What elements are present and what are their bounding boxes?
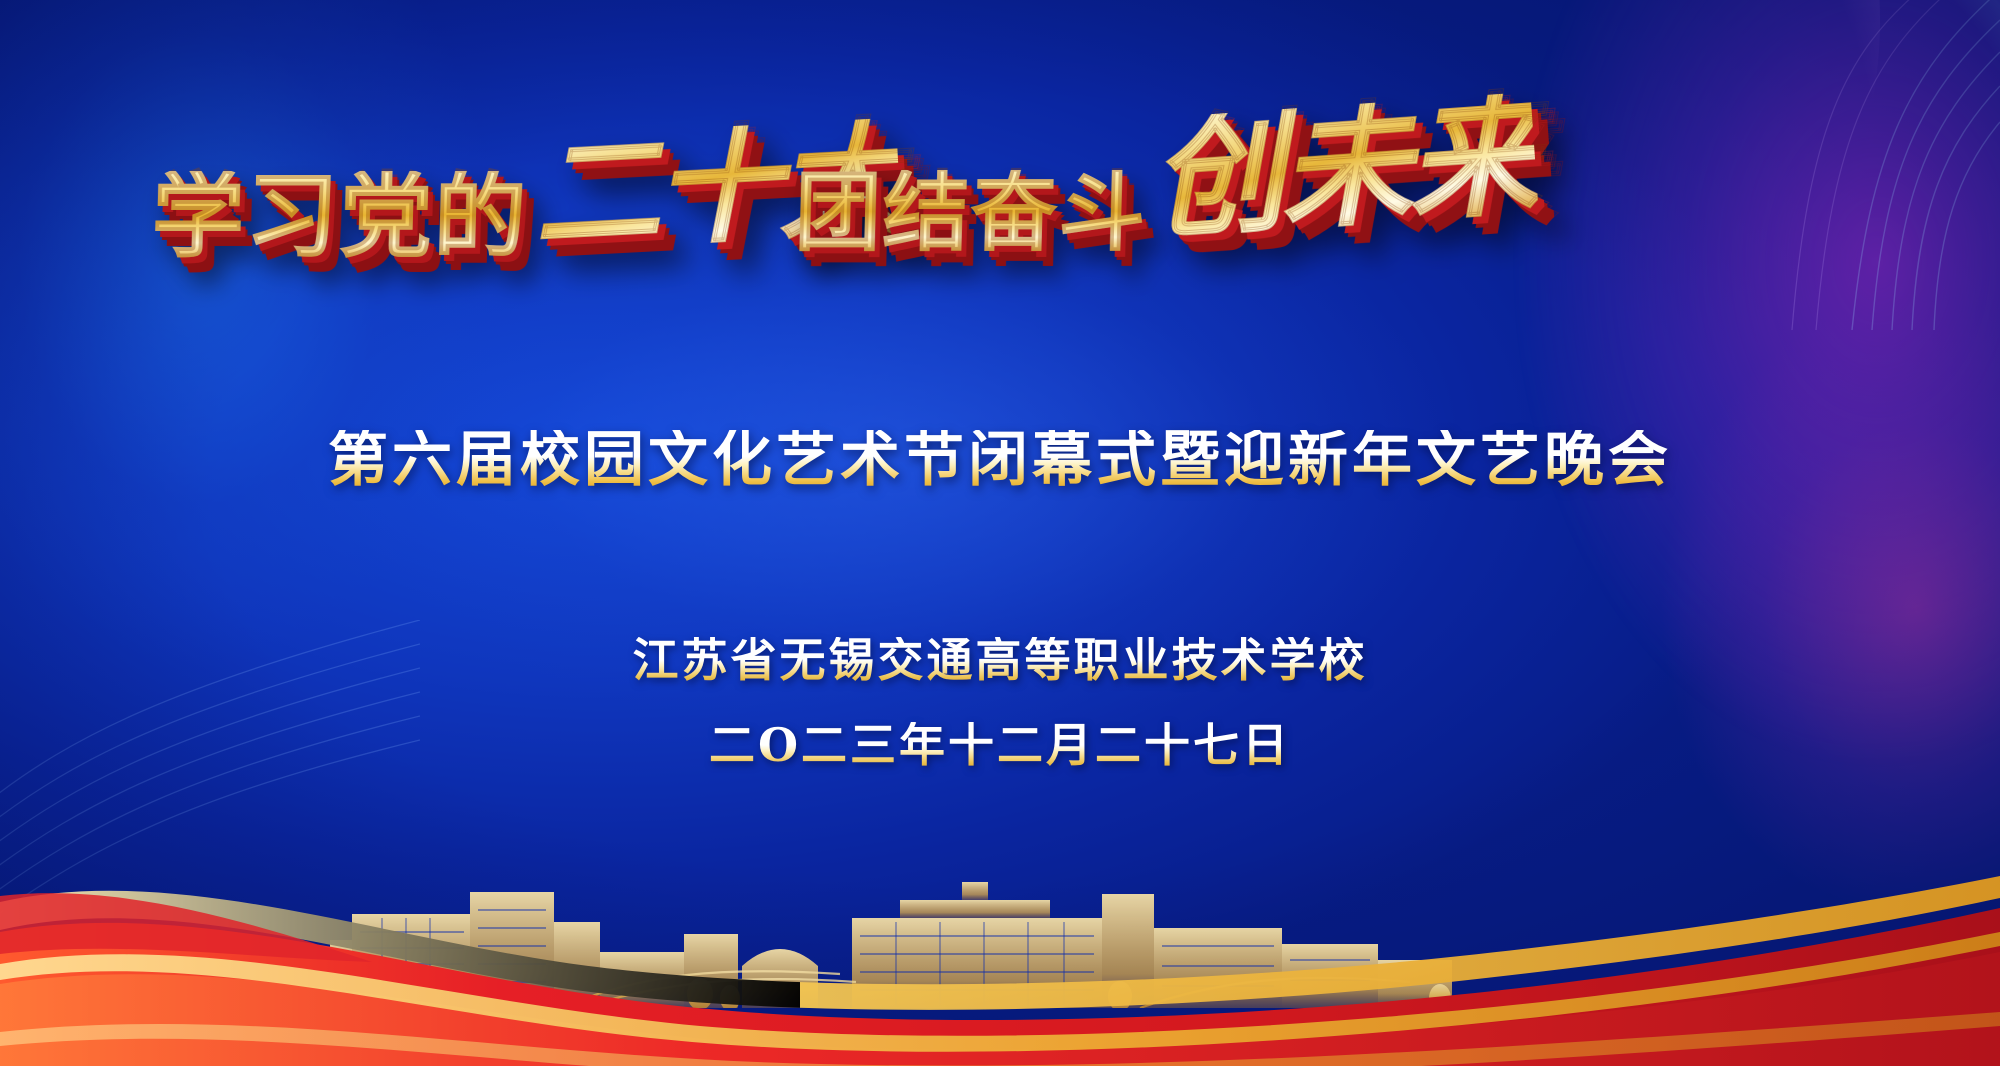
bottom-artwork xyxy=(0,766,2000,1066)
headline-phrase-2-cursive: 创未来 xyxy=(1147,92,1539,244)
red-gold-ribbon-wave-icon xyxy=(0,836,2000,1066)
headline-phrase-1: 学习党的 二十大 xyxy=(152,143,900,263)
banner-canvas: 学习党的 二十大 团结奋斗 创未来 第六届校园文化艺术节闭幕式暨迎新年文艺晚会 … xyxy=(0,0,2000,1066)
headline-phrase-2-block: 团结奋斗 xyxy=(794,170,1148,256)
organization-name: 江苏省无锡交通高等职业技术学校 xyxy=(0,637,2000,683)
headline-phrase-2: 团结奋斗 创未来 xyxy=(795,131,1537,256)
headline-row: 学习党的 二十大 团结奋斗 创未来 xyxy=(0,125,2000,340)
event-date: 二O二三年十二月二十七日 xyxy=(0,722,2000,768)
event-subtitle: 第六届校园文化艺术节闭幕式暨迎新年文艺晚会 xyxy=(0,430,2000,490)
headline-phrase-1-block: 学习党的 xyxy=(151,171,529,263)
